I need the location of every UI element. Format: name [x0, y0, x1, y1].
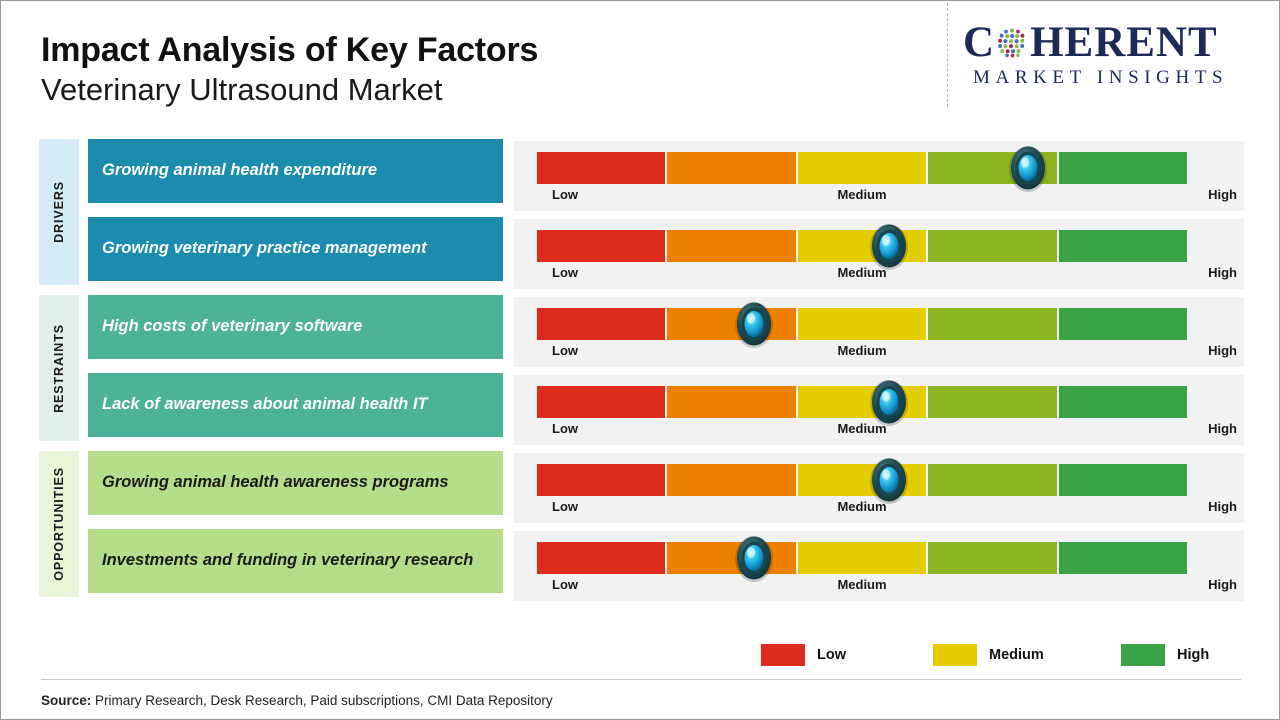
legend-swatch	[1121, 644, 1165, 666]
gauge-segment-5	[1059, 230, 1187, 262]
impact-gauge: LowMediumHigh	[514, 219, 1244, 289]
gauge-segment-1	[537, 386, 665, 418]
gauge-segment-3	[798, 464, 926, 496]
footer-divider	[41, 679, 1241, 680]
gauge-segment-1	[537, 308, 665, 340]
gauge-axis-labels: LowMediumHigh	[537, 265, 1237, 285]
impact-matrix: DRIVERSRESTRAINTSOPPORTUNITIESGrowing an…	[1, 133, 1280, 623]
logo-tagline: MARKET INSIGHTS	[963, 67, 1263, 89]
gauge-segment-4	[928, 464, 1056, 496]
logo-wordmark: C	[963, 21, 1263, 65]
gauge-label-medium: Medium	[537, 265, 1187, 280]
category-label-text: DRIVERS	[52, 181, 66, 243]
factor-label: Investments and funding in veterinary re…	[102, 549, 473, 573]
gauge-segment-4	[928, 542, 1056, 574]
factor-label: Growing animal health awareness programs	[102, 471, 449, 495]
gauge-segment-2	[667, 152, 795, 184]
infographic-page: Impact Analysis of Key Factors Veterinar…	[0, 0, 1280, 720]
gauge-segment-5	[1059, 152, 1187, 184]
impact-gauge: LowMediumHigh	[514, 375, 1244, 445]
page-subtitle: Veterinary Ultrasound Market	[41, 72, 538, 109]
gauge-segment-2	[667, 386, 795, 418]
gauge-segment-2	[667, 308, 795, 340]
gauge-segment-1	[537, 230, 665, 262]
gauge-segment-4	[928, 230, 1056, 262]
header: Impact Analysis of Key Factors Veterinar…	[1, 1, 1280, 133]
gauge-segment-4	[928, 386, 1056, 418]
legend-label: High	[1177, 647, 1209, 663]
gauge-segment-3	[798, 230, 926, 262]
gauge-segment-5	[1059, 542, 1187, 574]
gauge-label-high: High	[1187, 499, 1237, 514]
logo-divider	[947, 3, 948, 107]
impact-gauge: LowMediumHigh	[514, 141, 1244, 211]
gauge-axis-labels: LowMediumHigh	[537, 499, 1237, 519]
factor-label: Growing veterinary practice management	[102, 237, 427, 261]
factor-box[interactable]: Lack of awareness about animal health IT	[88, 373, 503, 437]
gauge-segment-4	[928, 308, 1056, 340]
gauge-label-medium: Medium	[537, 421, 1187, 436]
company-logo: C	[963, 21, 1263, 101]
factor-label: Growing animal health expenditure	[102, 159, 377, 183]
impact-gauge: LowMediumHigh	[514, 531, 1244, 601]
gauge-axis-labels: LowMediumHigh	[537, 343, 1237, 363]
gauge-segment-3	[798, 542, 926, 574]
legend: LowMediumHigh	[761, 644, 1211, 672]
gauge-label-medium: Medium	[537, 499, 1187, 514]
factor-box[interactable]: Growing veterinary practice management	[88, 217, 503, 281]
logo-letter-c: C	[963, 19, 994, 66]
gauge-axis-labels: LowMediumHigh	[537, 577, 1237, 597]
source-text: Primary Research, Desk Research, Paid su…	[91, 693, 552, 708]
gauge-scale-bar	[537, 152, 1187, 184]
gauge-label-high: High	[1187, 577, 1237, 592]
title-block: Impact Analysis of Key Factors Veterinar…	[41, 31, 538, 109]
legend-swatch	[933, 644, 977, 666]
factor-box[interactable]: High costs of veterinary software	[88, 295, 503, 359]
gauge-axis-labels: LowMediumHigh	[537, 187, 1237, 207]
gauge-scale-bar	[537, 464, 1187, 496]
coherent-sphere-icon	[995, 25, 1029, 59]
category-label-text: RESTRAINTS	[52, 324, 66, 413]
gauge-segment-5	[1059, 464, 1187, 496]
gauge-segment-2	[667, 230, 795, 262]
gauge-label-high: High	[1187, 187, 1237, 202]
legend-label: Medium	[989, 647, 1044, 663]
legend-swatch	[761, 644, 805, 666]
factor-label: High costs of veterinary software	[102, 315, 362, 339]
legend-item: High	[1121, 644, 1209, 666]
gauge-label-medium: Medium	[537, 577, 1187, 592]
gauge-label-high: High	[1187, 421, 1237, 436]
gauge-segment-4	[928, 152, 1056, 184]
gauge-segment-5	[1059, 386, 1187, 418]
legend-item: Low	[761, 644, 846, 666]
legend-label: Low	[817, 647, 846, 663]
gauge-segment-3	[798, 386, 926, 418]
gauge-scale-bar	[537, 308, 1187, 340]
gauge-segment-2	[667, 542, 795, 574]
source-note: Source: Primary Research, Desk Research,…	[41, 693, 553, 708]
gauge-label-medium: Medium	[537, 187, 1187, 202]
gauge-segment-1	[537, 152, 665, 184]
gauge-label-high: High	[1187, 343, 1237, 358]
gauge-label-high: High	[1187, 265, 1237, 280]
gauge-axis-labels: LowMediumHigh	[537, 421, 1237, 441]
gauge-segment-1	[537, 464, 665, 496]
gauge-label-medium: Medium	[537, 343, 1187, 358]
gauge-segment-2	[667, 464, 795, 496]
impact-gauge: LowMediumHigh	[514, 453, 1244, 523]
gauge-segment-1	[537, 542, 665, 574]
gauge-scale-bar	[537, 230, 1187, 262]
gauge-scale-bar	[537, 542, 1187, 574]
category-label-restraints: RESTRAINTS	[39, 295, 79, 441]
legend-item: Medium	[933, 644, 1044, 666]
gauge-scale-bar	[537, 386, 1187, 418]
impact-gauge: LowMediumHigh	[514, 297, 1244, 367]
factor-box[interactable]: Growing animal health expenditure	[88, 139, 503, 203]
gauge-segment-3	[798, 308, 926, 340]
category-label-opportunities: OPPORTUNITIES	[39, 451, 79, 597]
factor-box[interactable]: Investments and funding in veterinary re…	[88, 529, 503, 593]
gauge-segment-5	[1059, 308, 1187, 340]
factor-label: Lack of awareness about animal health IT	[102, 393, 428, 417]
category-label-text: OPPORTUNITIES	[52, 467, 66, 581]
factor-box[interactable]: Growing animal health awareness programs	[88, 451, 503, 515]
category-label-drivers: DRIVERS	[39, 139, 79, 285]
logo-letters-rest: HERENT	[1030, 19, 1218, 66]
gauge-segment-3	[798, 152, 926, 184]
source-label: Source:	[41, 693, 91, 708]
page-title: Impact Analysis of Key Factors	[41, 31, 538, 69]
